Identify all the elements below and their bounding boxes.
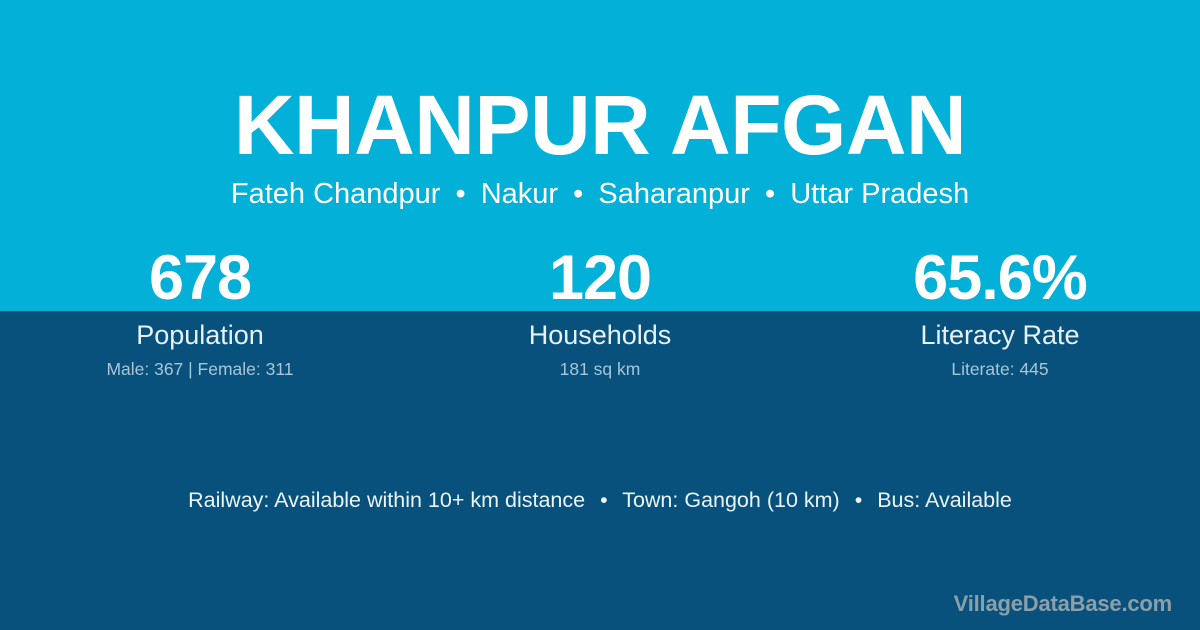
amenity-separator-icon: • <box>591 485 617 515</box>
page-title: KHANPUR AFGAN <box>0 78 1200 172</box>
breadcrumb-separator-icon: • <box>758 176 782 212</box>
stat-value-literacy-rate: 65.6% <box>800 246 1200 310</box>
stat-value-population: 678 <box>0 246 400 310</box>
breadcrumb-item-state: Uttar Pradesh <box>790 178 969 210</box>
stat-card-literacy-rate: 65.6% Literacy Rate Literate: 445 <box>800 246 1200 386</box>
amenity-town: Town: Gangoh (10 km) <box>622 488 840 512</box>
breadcrumb-item-block: Nakur <box>481 178 558 210</box>
breadcrumb-separator-icon: • <box>449 176 473 212</box>
amenities-line: Railway: Available within 10+ km distanc… <box>0 485 1200 515</box>
stat-label-literacy-rate: Literacy Rate <box>800 320 1200 350</box>
amenity-railway: Railway: Available within 10+ km distanc… <box>188 488 585 512</box>
stat-card-households: 120 Households 181 sq km <box>400 246 800 386</box>
card-header: KHANPUR AFGAN Fateh Chandpur • Nakur • S… <box>0 0 1200 212</box>
stat-card-population: 678 Population Male: 367 | Female: 311 <box>0 246 400 386</box>
breadcrumb-item-district: Saharanpur <box>598 178 750 210</box>
breadcrumb: Fateh Chandpur • Nakur • Saharanpur • Ut… <box>0 176 1200 212</box>
village-info-card: KHANPUR AFGAN Fateh Chandpur • Nakur • S… <box>0 0 1200 630</box>
stat-value-households: 120 <box>400 246 800 310</box>
stat-label-population: Population <box>0 320 400 350</box>
breadcrumb-item-village: Fateh Chandpur <box>231 178 441 210</box>
amenity-separator-icon: • <box>846 485 872 515</box>
stat-detail-population: Male: 367 | Female: 311 <box>0 359 400 379</box>
statistics-row: 678 Population Male: 367 | Female: 311 1… <box>0 246 1200 386</box>
stat-label-households: Households <box>400 320 800 350</box>
stat-detail-literacy-rate: Literate: 445 <box>800 359 1200 379</box>
amenity-bus: Bus: Available <box>877 488 1012 512</box>
stat-detail-households: 181 sq km <box>400 359 800 379</box>
brand-watermark: VillageDataBase.com <box>954 590 1172 618</box>
breadcrumb-separator-icon: • <box>566 176 590 212</box>
